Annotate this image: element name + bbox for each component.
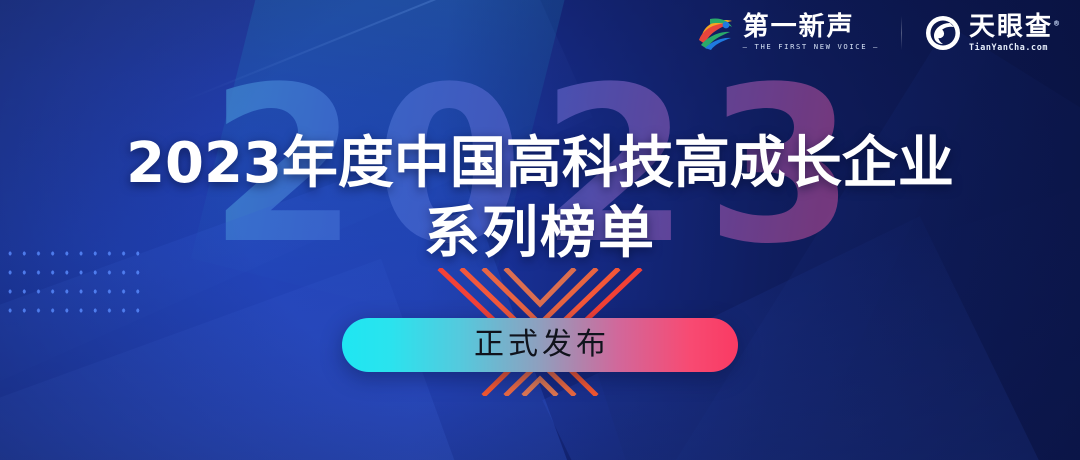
logo-divider: [901, 16, 902, 50]
registered-trademark-icon: ®: [1053, 19, 1062, 27]
logo-diyixinsheng-tagline: — THE FIRST NEW VOICE —: [743, 43, 879, 52]
dot-grid-decoration: [3, 244, 143, 320]
release-announcement-button[interactable]: 正式发布: [342, 318, 738, 372]
logo-bar: 第一新声 — THE FIRST NEW VOICE — 天眼查® TianYa…: [696, 14, 1062, 52]
logo-diyixinsheng-text: 第一新声 — THE FIRST NEW VOICE —: [743, 14, 879, 52]
logo-tianyancha-domain: TianYanCha.com: [969, 42, 1062, 52]
logo-tianyancha-name: 天眼查®: [969, 14, 1062, 41]
logo-diyixinsheng-name: 第一新声: [743, 14, 879, 41]
release-announcement-label: 正式发布: [470, 330, 610, 360]
logo-tianyancha[interactable]: 天眼查® TianYanCha.com: [924, 14, 1062, 52]
logo-tianyancha-name-cn: 天眼查: [969, 12, 1053, 42]
logo-tianyancha-text: 天眼查® TianYanCha.com: [969, 14, 1062, 52]
promo-banner: 2023 第: [0, 0, 1080, 460]
diyixinsheng-swirl-logo-icon: [696, 14, 736, 52]
tianyancha-eye-logo-icon: [924, 14, 962, 52]
background-vignette: [0, 0, 1080, 460]
logo-diyixinsheng[interactable]: 第一新声 — THE FIRST NEW VOICE —: [696, 14, 879, 52]
